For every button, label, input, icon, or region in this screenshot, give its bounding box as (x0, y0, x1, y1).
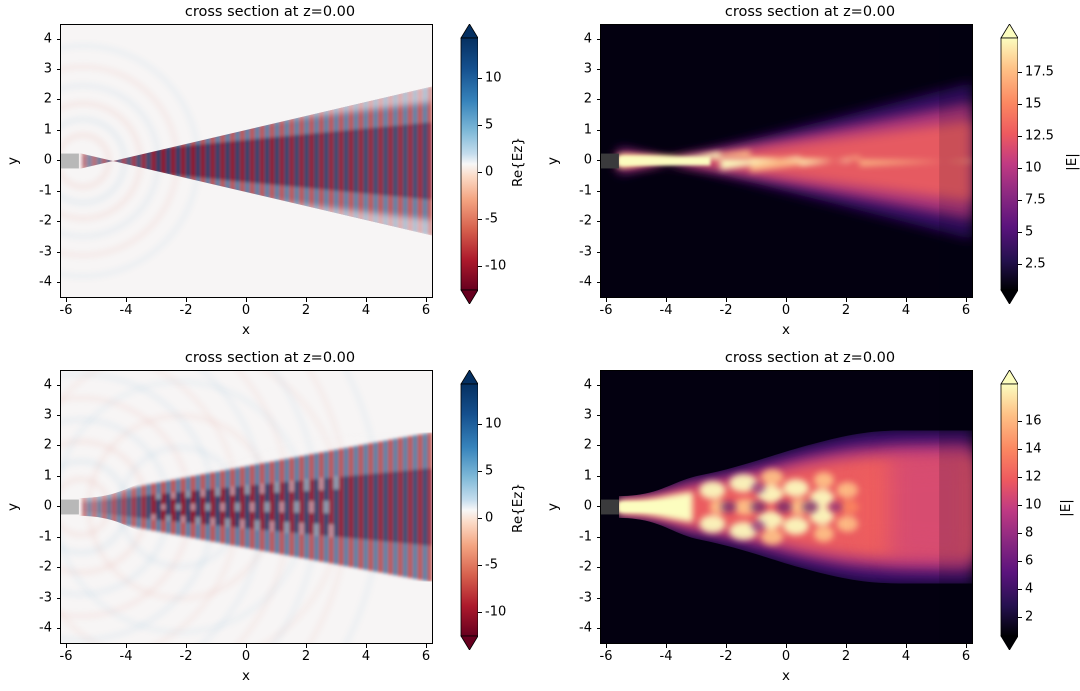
xticklabel: -6 (60, 649, 73, 664)
yticklabel: 1 (568, 469, 592, 484)
colorbar-gradient (992, 370, 1018, 650)
colorbar-gradient (992, 24, 1018, 304)
xticklabel: 2 (842, 649, 850, 664)
yticklabel: 3 (28, 408, 52, 423)
xticklabel: 2 (842, 303, 850, 318)
cbar-tick-5 (1018, 232, 1022, 233)
field-image-abs-e-single-mode (601, 25, 972, 297)
cbar-tick-2p5 (1018, 264, 1022, 265)
yticklabel: 4 (568, 378, 592, 393)
xtick-2 (306, 644, 307, 648)
xticklabel: -6 (600, 303, 613, 318)
ytick-0 (57, 160, 61, 161)
yticklabel: 4 (28, 378, 52, 393)
ytick-m3 (597, 252, 601, 253)
cbar-ticklabel: 15 (1025, 97, 1042, 112)
ytick-m1 (597, 191, 601, 192)
panel-bottom-right: cross section at z=0.00 (540, 345, 1080, 691)
yticklabel: 3 (568, 408, 592, 423)
ytick-2 (57, 445, 61, 446)
colorbar-gradient (452, 24, 478, 304)
cbar-ticklabel: 16 (1025, 414, 1042, 429)
cbar-tick-6 (1018, 561, 1022, 562)
yticklabel: -4 (562, 621, 592, 636)
ytick-m1 (597, 537, 601, 538)
panel-top-right: cross section at z=0.00 (540, 0, 1080, 345)
ytick-m3 (57, 598, 61, 599)
yticklabel: -1 (22, 530, 52, 545)
cbar-ticklabel: 6 (1025, 554, 1033, 569)
cbar-ticklabel: -5 (485, 212, 498, 227)
xtick-m4 (126, 644, 127, 648)
xtick-2 (846, 298, 847, 302)
yticklabel: 2 (568, 438, 592, 453)
panel-title: cross section at z=0.00 (0, 350, 540, 366)
cbar-tick-17p5 (1018, 72, 1022, 73)
ytick-3 (597, 69, 601, 70)
yticklabel: 4 (28, 32, 52, 47)
xticklabel: -2 (720, 649, 733, 664)
yticklabel: 1 (568, 123, 592, 138)
cbar-tick-10 (1018, 505, 1022, 506)
xtick-m4 (666, 644, 667, 648)
yticklabel: 2 (28, 92, 52, 107)
x-axis-label: x (782, 668, 790, 684)
cbar-tick-16 (1018, 421, 1022, 422)
ytick-3 (57, 415, 61, 416)
cbar-ticklabel: 14 (1025, 442, 1042, 457)
panel-bottom-left: cross section at z=0.00 (0, 345, 540, 691)
cbar-ticklabel: 2.5 (1025, 257, 1046, 272)
panel-title: cross section at z=0.00 (0, 4, 540, 20)
xticklabel: 0 (782, 303, 790, 318)
yticklabel: -3 (22, 591, 52, 606)
cbar-ticklabel: -5 (485, 558, 498, 573)
cbar-tick-5 (478, 471, 482, 472)
yticklabel: 0 (568, 153, 592, 168)
field-image-re-ez-single-mode (61, 25, 432, 297)
xtick-m4 (666, 298, 667, 302)
yticklabel: 0 (28, 499, 52, 514)
cbar-tick-m5 (478, 219, 482, 220)
ytick-3 (57, 69, 61, 70)
yticklabel: 2 (568, 92, 592, 107)
axes-bottom-left[interactable] (60, 370, 433, 644)
cbar-ticklabel: -10 (485, 259, 506, 274)
y-axis-label: y (545, 493, 561, 521)
cbar-ticklabel: 0 (485, 165, 493, 180)
ytick-0 (597, 160, 601, 161)
cbar-ticklabel: 0 (485, 511, 493, 526)
cbar-ticklabel: -10 (485, 605, 506, 620)
axes-top-left[interactable] (60, 24, 433, 298)
ytick-2 (597, 445, 601, 446)
xticklabel: 0 (782, 649, 790, 664)
xticklabel: -4 (660, 303, 673, 318)
y-axis-label: y (5, 147, 21, 175)
yticklabel: 4 (568, 32, 592, 47)
cbar-ticklabel: 4 (1025, 582, 1033, 597)
colorbar-label: |E| (1064, 122, 1080, 202)
cbar-ticklabel: 2 (1025, 610, 1033, 625)
xtick-m2 (726, 298, 727, 302)
yticklabel: -2 (22, 560, 52, 575)
cbar-tick-12p5 (1018, 136, 1022, 137)
xticklabel: -4 (120, 303, 133, 318)
panel-title: cross section at z=0.00 (540, 4, 1080, 20)
xtick-m4 (126, 298, 127, 302)
yticklabel: -1 (562, 184, 592, 199)
xtick-6 (426, 298, 427, 302)
ytick-1 (597, 130, 601, 131)
yticklabel: -2 (562, 560, 592, 575)
yticklabel: -1 (22, 184, 52, 199)
yticklabel: -4 (22, 621, 52, 636)
cbar-tick-10 (478, 78, 482, 79)
cbar-ticklabel: 10 (485, 417, 502, 432)
xtick-m2 (186, 644, 187, 648)
yticklabel: 3 (568, 62, 592, 77)
matplotlib-figure: cross section at z=0.00 (0, 0, 1080, 691)
ytick-m4 (597, 282, 601, 283)
ytick-m1 (57, 537, 61, 538)
panel-title: cross section at z=0.00 (540, 350, 1080, 366)
xticklabel: 6 (962, 303, 970, 318)
cbar-ticklabel: 5 (485, 118, 493, 133)
colorbar-bottom-right[interactable]: 16 14 12 10 8 6 4 2 |E| (992, 370, 1072, 650)
xticklabel: -6 (60, 303, 73, 318)
yticklabel: -3 (562, 591, 592, 606)
yticklabel: 2 (28, 438, 52, 453)
xtick-m6 (606, 644, 607, 648)
ytick-m3 (597, 598, 601, 599)
cbar-ticklabel: 12 (1025, 470, 1042, 485)
xtick-m6 (66, 298, 67, 302)
xticklabel: 6 (422, 303, 430, 318)
yticklabel: -2 (22, 214, 52, 229)
y-axis-label: y (5, 493, 21, 521)
ytick-4 (597, 385, 601, 386)
xtick-4 (366, 298, 367, 302)
ytick-0 (57, 506, 61, 507)
xticklabel: -4 (120, 649, 133, 664)
panel-top-left: cross section at z=0.00 (0, 0, 540, 345)
x-axis-label: x (782, 322, 790, 338)
x-axis-label: x (242, 668, 250, 684)
ytick-1 (597, 476, 601, 477)
xticklabel: 4 (362, 303, 370, 318)
axes-bottom-right[interactable] (600, 370, 973, 644)
cbar-tick-4 (1018, 589, 1022, 590)
xtick-4 (906, 298, 907, 302)
xtick-0 (786, 298, 787, 302)
cbar-tick-12 (1018, 477, 1022, 478)
cbar-tick-10 (1018, 168, 1022, 169)
xtick-4 (906, 644, 907, 648)
field-image-abs-e-multimode (601, 371, 972, 643)
y-axis-label: y (545, 147, 561, 175)
cbar-ticklabel: 7.5 (1025, 193, 1046, 208)
yticklabel: -1 (562, 530, 592, 545)
ytick-0 (597, 506, 601, 507)
xtick-6 (966, 298, 967, 302)
cbar-tick-0 (478, 518, 482, 519)
xticklabel: -2 (720, 303, 733, 318)
cbar-ticklabel: 10 (485, 71, 502, 86)
yticklabel: -3 (22, 245, 52, 260)
xtick-6 (966, 644, 967, 648)
ytick-m2 (57, 221, 61, 222)
xtick-m6 (606, 298, 607, 302)
xticklabel: -6 (600, 649, 613, 664)
xticklabel: 0 (242, 649, 250, 664)
yticklabel: 1 (28, 469, 52, 484)
xtick-m2 (186, 298, 187, 302)
yticklabel: -4 (562, 275, 592, 290)
ytick-m2 (57, 567, 61, 568)
cbar-tick-2 (1018, 617, 1022, 618)
xtick-2 (306, 298, 307, 302)
ytick-4 (57, 385, 61, 386)
xticklabel: 2 (302, 303, 310, 318)
cbar-tick-m10 (478, 266, 482, 267)
ytick-4 (57, 39, 61, 40)
cbar-tick-10 (478, 424, 482, 425)
cbar-tick-5 (478, 125, 482, 126)
yticklabel: 0 (28, 153, 52, 168)
xtick-m2 (726, 644, 727, 648)
xticklabel: 6 (422, 649, 430, 664)
ytick-4 (597, 39, 601, 40)
xtick-0 (246, 298, 247, 302)
colorbar-gradient (452, 370, 478, 650)
cbar-ticklabel: 10 (1025, 161, 1042, 176)
ytick-1 (57, 476, 61, 477)
ytick-m2 (597, 567, 601, 568)
xtick-4 (366, 644, 367, 648)
yticklabel: 1 (28, 123, 52, 138)
colorbar-top-left[interactable]: 10 5 0 -5 -10 Re{Ez} (452, 24, 532, 304)
axes-top-right[interactable] (600, 24, 973, 298)
xtick-2 (846, 644, 847, 648)
xticklabel: 2 (302, 649, 310, 664)
cbar-tick-m10 (478, 612, 482, 613)
xticklabel: -2 (180, 303, 193, 318)
ytick-m4 (57, 282, 61, 283)
ytick-m4 (597, 628, 601, 629)
yticklabel: -3 (562, 245, 592, 260)
field-image-re-ez-multimode (61, 371, 432, 643)
ytick-m4 (57, 628, 61, 629)
xticklabel: -2 (180, 649, 193, 664)
xticklabel: 4 (902, 649, 910, 664)
ytick-m2 (597, 221, 601, 222)
ytick-1 (57, 130, 61, 131)
cbar-tick-14 (1018, 449, 1022, 450)
ytick-3 (597, 415, 601, 416)
xticklabel: 0 (242, 303, 250, 318)
cbar-tick-m5 (478, 565, 482, 566)
xticklabel: -4 (660, 649, 673, 664)
cbar-ticklabel: 5 (1025, 225, 1033, 240)
xticklabel: 4 (362, 649, 370, 664)
cbar-tick-0 (478, 172, 482, 173)
cbar-tick-7p5 (1018, 200, 1022, 201)
xtick-6 (426, 644, 427, 648)
colorbar-label: Re{Ez} (510, 468, 526, 548)
yticklabel: -2 (562, 214, 592, 229)
cbar-ticklabel: 10 (1025, 498, 1042, 513)
yticklabel: -4 (22, 275, 52, 290)
cbar-ticklabel: 12.5 (1025, 129, 1054, 144)
yticklabel: 3 (28, 62, 52, 77)
cbar-ticklabel: 5 (485, 464, 493, 479)
yticklabel: 0 (568, 499, 592, 514)
cbar-ticklabel: 8 (1025, 526, 1033, 541)
ytick-2 (597, 99, 601, 100)
ytick-m3 (57, 252, 61, 253)
cbar-ticklabel: 17.5 (1025, 65, 1054, 80)
colorbar-bottom-left[interactable]: 10 5 0 -5 -10 Re{Ez} (452, 370, 532, 650)
xticklabel: 6 (962, 649, 970, 664)
colorbar-label: |E| (1058, 468, 1074, 548)
colorbar-top-right[interactable]: 17.5 15 12.5 10 7.5 5 2.5 |E| (992, 24, 1072, 304)
xtick-m6 (66, 644, 67, 648)
colorbar-label: Re{Ez} (510, 122, 526, 202)
cbar-tick-15 (1018, 104, 1022, 105)
ytick-m1 (57, 191, 61, 192)
xtick-0 (246, 644, 247, 648)
cbar-tick-8 (1018, 533, 1022, 534)
xticklabel: 4 (902, 303, 910, 318)
ytick-2 (57, 99, 61, 100)
x-axis-label: x (242, 322, 250, 338)
xtick-0 (786, 644, 787, 648)
